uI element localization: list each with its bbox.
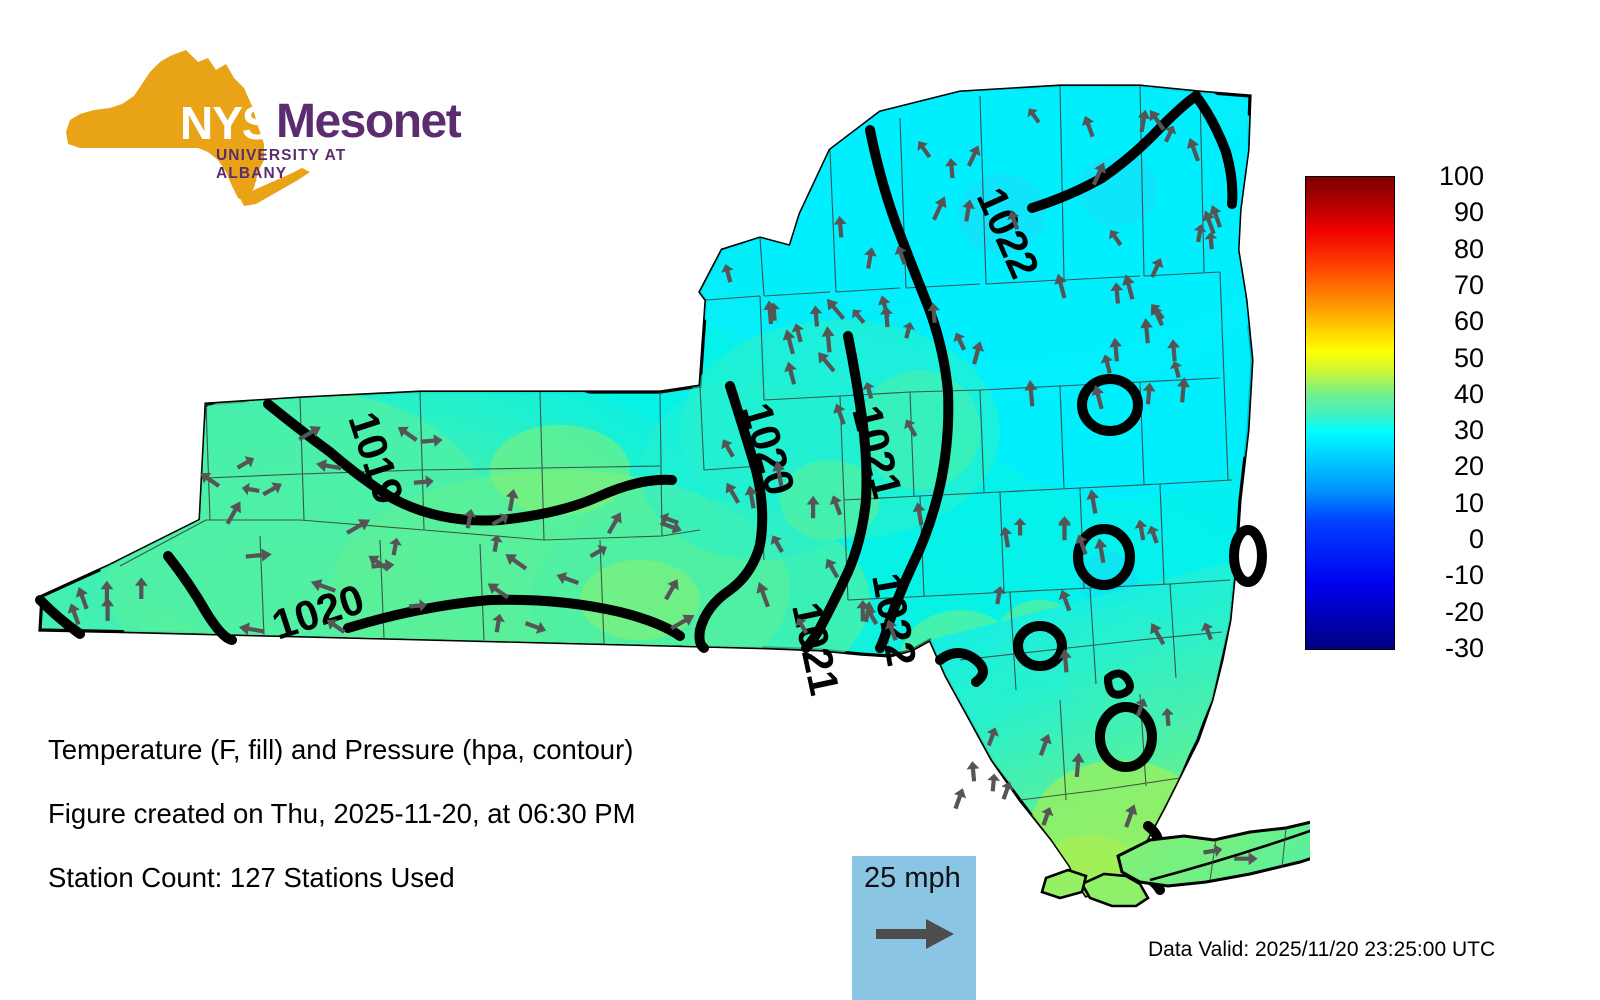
caption-line-created: Figure created on Thu, 2025-11-20, at 06… bbox=[48, 782, 888, 846]
caption-line-stations: Station Count: 127 Stations Used bbox=[48, 846, 888, 910]
wind-barb bbox=[949, 786, 968, 811]
colorbar-tick: -30 bbox=[1445, 635, 1484, 662]
wind-arrow-icon bbox=[874, 914, 958, 954]
colorbar-tick: 50 bbox=[1454, 345, 1484, 372]
wind-barb bbox=[966, 761, 981, 782]
contour-ring-6 bbox=[1234, 530, 1262, 582]
wind-legend-label: 25 mph bbox=[864, 862, 961, 895]
colorbar-tick: 40 bbox=[1454, 381, 1484, 408]
cutoff-text-row bbox=[48, 944, 848, 958]
wind-barb bbox=[986, 773, 1000, 792]
temperature-colorbar bbox=[1305, 176, 1395, 650]
colorbar-tick: 100 bbox=[1439, 163, 1484, 190]
colorbar-tick: 0 bbox=[1469, 526, 1484, 553]
wind-speed-legend: 25 mph bbox=[852, 856, 976, 1000]
colorbar-tick-labels: 1009080706050403020100-10-20-30 bbox=[1424, 170, 1544, 660]
colorbar-tick: 80 bbox=[1454, 236, 1484, 263]
caption-block: Temperature (F, fill) and Pressure (hpa,… bbox=[48, 718, 888, 910]
colorbar-tick: 10 bbox=[1454, 490, 1484, 517]
colorbar-tick: 90 bbox=[1454, 199, 1484, 226]
colorbar-tick: 70 bbox=[1454, 272, 1484, 299]
weather-map-figure: NYS Mesonet UNIVERSITY AT ALBANY bbox=[0, 0, 1600, 1000]
colorbar-tick: 20 bbox=[1454, 453, 1484, 480]
colorbar-tick: -20 bbox=[1445, 599, 1484, 626]
caption-line-title: Temperature (F, fill) and Pressure (hpa,… bbox=[48, 718, 888, 782]
colorbar-tick: 60 bbox=[1454, 308, 1484, 335]
data-valid-footer: Data Valid: 2025/11/20 23:25:00 UTC bbox=[1148, 938, 1495, 962]
colorbar-tick: -10 bbox=[1445, 562, 1484, 589]
colorbar-tick: 30 bbox=[1454, 417, 1484, 444]
